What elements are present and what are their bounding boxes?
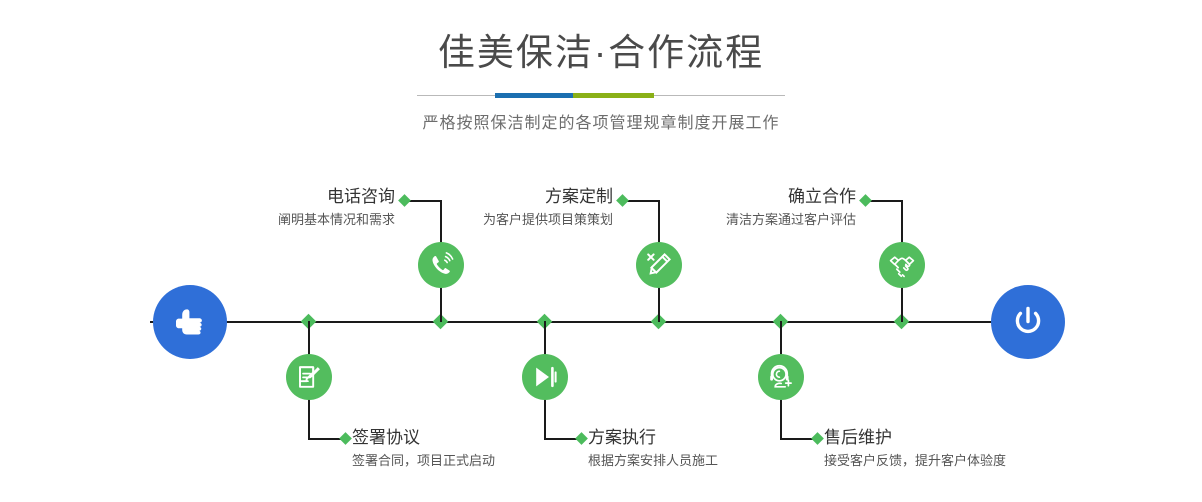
pointing-hand-icon bbox=[170, 302, 210, 342]
pencil-design-icon bbox=[645, 251, 673, 279]
power-icon bbox=[1008, 302, 1048, 342]
label-marker bbox=[339, 432, 352, 445]
step-desc: 接受客户反馈，提升客户体验度 bbox=[824, 451, 1154, 471]
step-icon-handshake[interactable] bbox=[879, 242, 925, 288]
step-name: 方案定制 bbox=[330, 186, 613, 207]
step-label-3: 方案定制 为客户提供项目策策划 bbox=[330, 186, 613, 230]
step-icon-phone-call[interactable] bbox=[418, 242, 464, 288]
play-next-icon bbox=[532, 364, 558, 390]
end-endpoint[interactable] bbox=[991, 285, 1065, 359]
step-icon-document-edit[interactable] bbox=[286, 354, 332, 400]
document-edit-icon bbox=[296, 364, 322, 390]
step-desc: 为客户提供项目策策划 bbox=[330, 210, 613, 230]
step-icon-headset-support[interactable] bbox=[758, 354, 804, 400]
label-marker bbox=[859, 194, 872, 207]
start-endpoint[interactable] bbox=[153, 285, 227, 359]
step-name: 确立合作 bbox=[573, 186, 856, 207]
step-label-6: 售后维护 接受客户反馈，提升客户体验度 bbox=[824, 427, 1154, 471]
step-desc: 清洁方案通过客户评估 bbox=[573, 210, 856, 230]
handshake-icon bbox=[888, 251, 916, 279]
step-label-5: 确立合作 清洁方案通过客户评估 bbox=[573, 186, 856, 230]
headset-support-icon bbox=[768, 364, 794, 390]
step-name: 售后维护 bbox=[824, 427, 1154, 448]
timeline: 电话咨询 阐明基本情况和需求 签署协议 签署合同，项目正式启动 bbox=[0, 0, 1202, 502]
cooperation-flow-infographic: 佳美保洁·合作流程 严格按照保洁制定的各项管理规章制度开展工作 bbox=[0, 0, 1202, 502]
step-icon-play-next[interactable] bbox=[522, 354, 568, 400]
step-icon-pencil-design[interactable] bbox=[636, 242, 682, 288]
phone-call-icon bbox=[427, 251, 455, 279]
